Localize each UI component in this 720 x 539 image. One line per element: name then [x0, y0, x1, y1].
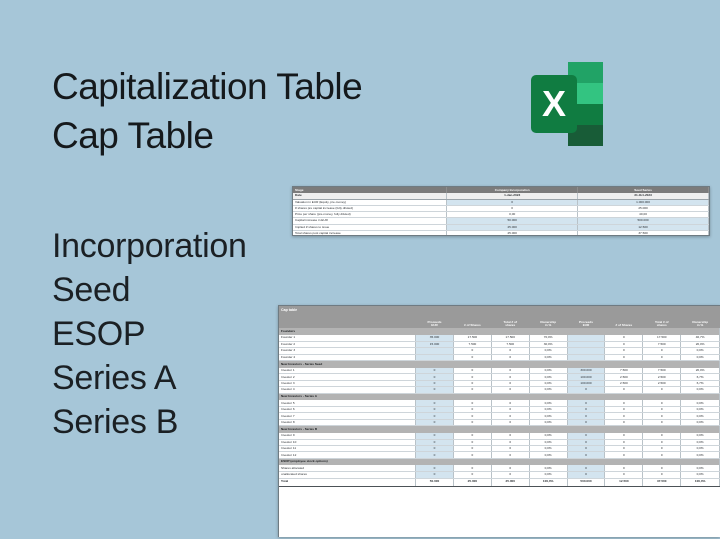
cap-table-section-header: Founders	[279, 328, 720, 335]
valuation-row-value: 25.000	[447, 230, 578, 236]
cap-table-section-label: New Investors - Series A	[279, 393, 720, 400]
valuation-row-label: Total shares post capital increase	[293, 230, 447, 236]
cap-table-col-header: Ownershipin %	[529, 315, 567, 328]
cap-table-section-label: New Investors - Series B	[279, 426, 720, 433]
valuation-table: StageCompany IncorporationSeed SeriesDat…	[293, 187, 709, 236]
stage-item-1: Seed	[52, 268, 247, 312]
cap-table-col-header: # of Shares	[453, 315, 491, 328]
cap-table-section-header: New Investors - Series Seed	[279, 361, 720, 368]
cap-table-title-row: Cap table	[279, 306, 720, 315]
cap-table-col-header: Total # ofshares	[643, 315, 681, 328]
cap-table-total-value: 37.500	[643, 478, 681, 486]
cap-table-total-value: 12.500	[605, 478, 643, 486]
cap-table-col-header: Ownershipin %	[681, 315, 720, 328]
cap-table-col-header: ProceedsEUR	[416, 315, 454, 328]
page-title: Capitalization Table Cap Table	[52, 62, 362, 160]
cap-table-header-blank	[279, 315, 416, 328]
cap-table-total-value: 100,0%	[529, 478, 567, 486]
cap-table-col-header: Total # ofshares	[491, 315, 529, 328]
stage-item-0: Incorporation	[52, 224, 247, 268]
stage-item-2: ESOP	[52, 312, 247, 356]
cap-table-section-label: Founders	[279, 328, 720, 335]
excel-logo-letter: X	[542, 83, 566, 124]
cap-table-header-row: ProceedsEUR# of SharesTotal # ofsharesOw…	[279, 315, 720, 328]
stage-item-4: Series B	[52, 400, 247, 444]
valuation-row[interactable]: Total shares post capital increase25.000…	[293, 230, 709, 236]
cap-table-total-label: Total	[279, 478, 416, 486]
cap-table-total-value: 25.000	[453, 478, 491, 486]
cap-table-total-value: 100,0%	[681, 478, 720, 486]
valuation-row-value: 37.500	[578, 230, 709, 236]
cap-table-section-label: ESOP (employee stock options)	[279, 458, 720, 465]
page-title-line-1: Capitalization Table	[52, 66, 362, 107]
valuation-sheet[interactable]: StageCompany IncorporationSeed SeriesDat…	[292, 186, 710, 236]
cap-table-section-header: New Investors - Series A	[279, 393, 720, 400]
cap-table-col-header: ProceedsEUR	[567, 315, 605, 328]
stage-list: IncorporationSeedESOPSeries ASeries B	[52, 224, 247, 444]
stage-item-3: Series A	[52, 356, 247, 400]
cap-table-sheet[interactable]: Cap tableProceedsEUR# of SharesTotal # o…	[278, 305, 720, 537]
microsoft-excel-logo: X	[525, 62, 603, 146]
cap-table-title: Cap table	[279, 306, 720, 315]
cap-table-total-value: 500.000	[567, 478, 605, 486]
cap-table-col-header: # of Shares	[605, 315, 643, 328]
cap-table-section-label: New Investors - Series Seed	[279, 361, 720, 368]
cap-table-total-row: Total50.00025.00025.000100,0%500.00012.5…	[279, 478, 720, 486]
cap-table-section-header: ESOP (employee stock options)	[279, 458, 720, 465]
cap-table-total-value: 50.000	[416, 478, 454, 486]
page-title-line-2: Cap Table	[52, 111, 362, 160]
cap-table-section-header: New Investors - Series B	[279, 426, 720, 433]
cap-table-total-value: 25.000	[491, 478, 529, 486]
cap-table: Cap tableProceedsEUR# of SharesTotal # o…	[279, 306, 720, 487]
